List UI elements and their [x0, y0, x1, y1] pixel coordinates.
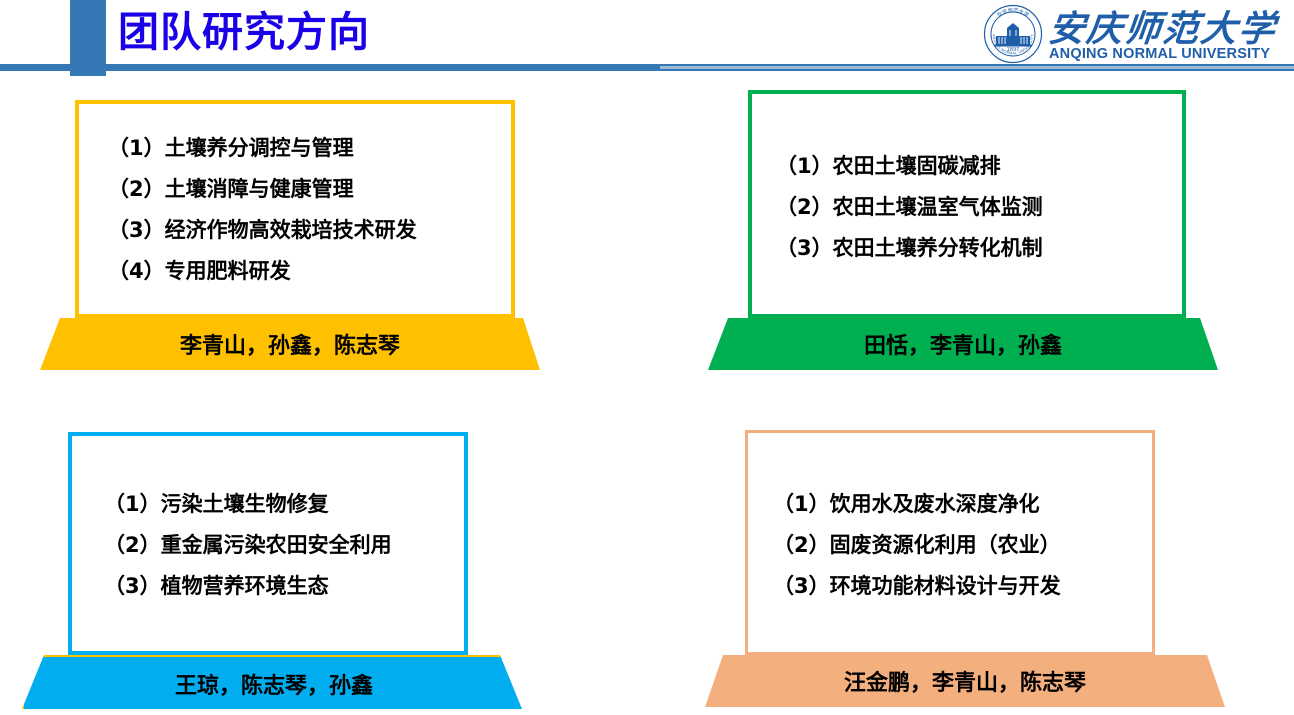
list-item: （3）植物营养环境生态 [104, 566, 392, 607]
list-item: （2）农田土壤温室气体监测 [776, 187, 1043, 228]
university-seal-icon: 1897 安庆师范大学 ANQING NORMAL UNIVERSITY [983, 4, 1043, 64]
slide-header: 团队研究方向 [0, 0, 1294, 80]
card-members-label: 汪金鹏，李青山，陈志琴 [844, 665, 1086, 697]
research-card-soil-nutrient: （1）土壤养分调控与管理 （2）土壤消障与健康管理 （3）经济作物高效栽培技术研… [40, 100, 540, 375]
list-item: （3）环境功能材料设计与开发 [773, 566, 1061, 607]
card-members-label: 王琼，陈志琴，孙鑫 [175, 668, 373, 700]
research-card-water-environment: （1）饮用水及废水深度净化 （2）固废资源化利用（农业） （3）环境功能材料设计… [705, 430, 1225, 708]
page-title: 团队研究方向 [118, 2, 370, 62]
list-item: （1）土壤养分调控与管理 [108, 128, 417, 169]
university-logo: 1897 安庆师范大学 ANQING NORMAL UNIVERSITY 安庆师… [983, 2, 1288, 66]
list-item: （4）专用肥料研发 [108, 251, 417, 292]
research-card-farmland-carbon: （1）农田土壤固碳减排 （2）农田土壤温室气体监测 （3）农田土壤养分转化机制 … [708, 90, 1218, 375]
card-item-list: （1）农田土壤固碳减排 （2）农田土壤温室气体监测 （3）农田土壤养分转化机制 [776, 146, 1043, 269]
logo-name-en: ANQING NORMAL UNIVERSITY [1049, 46, 1270, 62]
card-members-banner: 田恬，李青山，孙鑫 [708, 318, 1218, 370]
logo-name-cn: 安庆师范大学 [1046, 0, 1279, 52]
list-item: （2）土壤消障与健康管理 [108, 169, 417, 210]
card-item-list: （1）土壤养分调控与管理 （2）土壤消障与健康管理 （3）经济作物高效栽培技术研… [108, 128, 417, 292]
research-card-soil-remediation: （1）污染土壤生物修复 （2）重金属污染农田安全利用 （3）植物营养环境生态 王… [22, 432, 522, 707]
list-item: （1）污染土壤生物修复 [104, 484, 392, 525]
list-item: （2）固废资源化利用（农业） [773, 525, 1061, 566]
list-item: （3）农田土壤养分转化机制 [776, 228, 1043, 269]
card-item-list: （1）污染土壤生物修复 （2）重金属污染农田安全利用 （3）植物营养环境生态 [104, 484, 392, 607]
list-item: （1）饮用水及废水深度净化 [773, 484, 1061, 525]
card-members-label: 李青山，孙鑫，陈志琴 [180, 328, 400, 360]
list-item: （1）农田土壤固碳减排 [776, 146, 1043, 187]
card-members-label: 田恬，李青山，孙鑫 [864, 328, 1062, 360]
list-item: （2）重金属污染农田安全利用 [104, 525, 392, 566]
header-divider-rule-thin [660, 66, 1294, 69]
header-accent-bar [70, 0, 106, 76]
card-members-banner: 汪金鹏，李青山，陈志琴 [705, 655, 1225, 707]
list-item: （3）经济作物高效栽培技术研发 [108, 210, 417, 251]
card-members-banner: 王琼，陈志琴，孙鑫 [22, 655, 526, 713]
card-item-list: （1）饮用水及废水深度净化 （2）固废资源化利用（农业） （3）环境功能材料设计… [773, 484, 1061, 607]
card-members-banner: 李青山，孙鑫，陈志琴 [40, 318, 540, 370]
